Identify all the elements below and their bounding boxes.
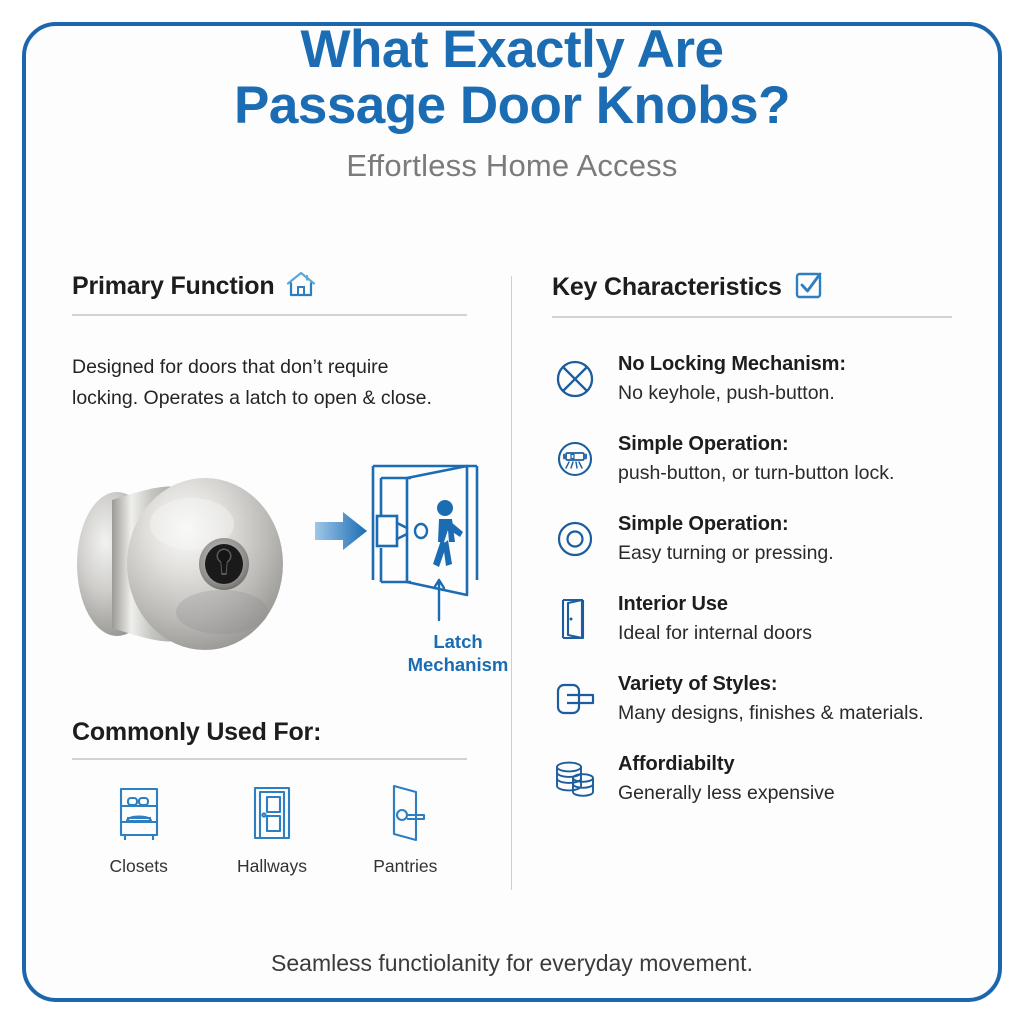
- list-item-text: Simple Operation: Easy turning or pressi…: [618, 510, 834, 566]
- list-item-description: Easy turning or pressing.: [618, 540, 834, 566]
- closet-shelf-icon: [112, 829, 166, 846]
- list-item-title: Interior Use: [618, 592, 812, 617]
- footer-tagline: Seamless functiolanity for everyday move…: [0, 950, 1024, 977]
- list-item-text: Affordiabilty Generally less expensive: [618, 750, 835, 806]
- latch-label-line-2: Mechanism: [378, 653, 538, 676]
- list-item[interactable]: No Locking Mechanism: No keyhole, push-b…: [552, 350, 962, 406]
- list-item-title: Simple Operation:: [618, 512, 834, 537]
- primary-function-description: Designed for doors that don’t require lo…: [72, 352, 472, 414]
- primary-function-section: Primary Function Designed for doors that…: [72, 270, 472, 414]
- page-title-line-2: Passage Door Knobs?: [0, 78, 1024, 134]
- list-item-text: Simple Operation: push-button, or turn-b…: [618, 430, 894, 486]
- open-door-lever-icon: [378, 829, 432, 846]
- commonly-used-section: Commonly Used For:: [72, 718, 472, 877]
- key-characteristics-section: Key Characteristics No Locking Mechan: [552, 270, 962, 830]
- infographic-page: What Exactly Are Passage Door Knobs? Eff…: [0, 0, 1024, 1024]
- used-item-closets-label: Closets: [79, 856, 199, 877]
- circle-x-icon: [552, 356, 598, 402]
- header: What Exactly Are Passage Door Knobs? Eff…: [0, 22, 1024, 184]
- column-divider: [511, 276, 512, 890]
- commonly-used-header: Commonly Used For:: [72, 718, 472, 747]
- lever-handle-icon: [552, 676, 598, 722]
- list-item-title: No Locking Mechanism:: [618, 352, 846, 377]
- list-item-description: No keyhole, push-button.: [618, 380, 846, 406]
- list-item[interactable]: Variety of Styles: Many designs, finishe…: [552, 670, 962, 726]
- key-characteristics-title: Key Characteristics: [552, 273, 782, 302]
- coin-stack-icon: [552, 756, 598, 802]
- primary-function-description-line-2: locking. Operates a latch to open & clos…: [72, 383, 472, 414]
- commonly-used-title: Commonly Used For:: [72, 718, 321, 747]
- list-item-title: Simple Operation:: [618, 432, 894, 457]
- list-item-description: Generally less expensive: [618, 780, 835, 806]
- page-subtitle: Effortless Home Access: [0, 148, 1024, 184]
- primary-function-header: Primary Function: [72, 270, 472, 303]
- list-item-title: Affordiabilty: [618, 752, 835, 777]
- latch-door-diagram: [315, 460, 495, 635]
- used-item-pantries-label: Pantries: [345, 856, 465, 877]
- list-item-description: Many designs, finishes & materials.: [618, 700, 924, 726]
- knob-illustration: Latch Mechanism: [72, 452, 482, 687]
- used-item-hallways[interactable]: Hallways: [212, 784, 332, 877]
- key-characteristics-header: Key Characteristics: [552, 270, 962, 305]
- used-item-hallways-label: Hallways: [212, 856, 332, 877]
- door-knob-image: [72, 452, 322, 672]
- page-title-line-1: What Exactly Are: [0, 22, 1024, 78]
- house-icon: [286, 270, 316, 303]
- circle-latch-icon: [552, 436, 598, 482]
- list-item-description: Ideal for internal doors: [618, 620, 812, 646]
- list-item-text: Interior Use Ideal for internal doors: [618, 590, 812, 646]
- primary-function-title: Primary Function: [72, 272, 274, 301]
- closed-door-icon: [245, 829, 299, 846]
- used-item-pantries[interactable]: Pantries: [345, 784, 465, 877]
- primary-function-description-line-1: Designed for doors that don’t require: [72, 352, 472, 383]
- primary-function-rule: [72, 314, 467, 316]
- list-item-text: Variety of Styles: Many designs, finishe…: [618, 670, 924, 726]
- checkbox-checked-icon: [794, 270, 824, 305]
- used-item-closets[interactable]: Closets: [79, 784, 199, 877]
- list-item[interactable]: Simple Operation: push-button, or turn-b…: [552, 430, 962, 486]
- latch-label-line-1: Latch: [378, 630, 538, 653]
- key-characteristics-rule: [552, 316, 952, 318]
- commonly-used-row: Closets Hallways: [72, 784, 472, 877]
- key-characteristics-list: No Locking Mechanism: No keyhole, push-b…: [552, 350, 962, 806]
- list-item[interactable]: Simple Operation: Easy turning or pressi…: [552, 510, 962, 566]
- list-item[interactable]: Affordiabilty Generally less expensive: [552, 750, 962, 806]
- commonly-used-rule: [72, 758, 467, 760]
- list-item-text: No Locking Mechanism: No keyhole, push-b…: [618, 350, 846, 406]
- list-item-title: Variety of Styles:: [618, 672, 924, 697]
- list-item-description: push-button, or turn-button lock.: [618, 460, 894, 486]
- list-item[interactable]: Interior Use Ideal for internal doors: [552, 590, 962, 646]
- open-door-icon: [552, 596, 598, 642]
- latch-mechanism-label: Latch Mechanism: [378, 630, 538, 676]
- concentric-circles-icon: [552, 516, 598, 562]
